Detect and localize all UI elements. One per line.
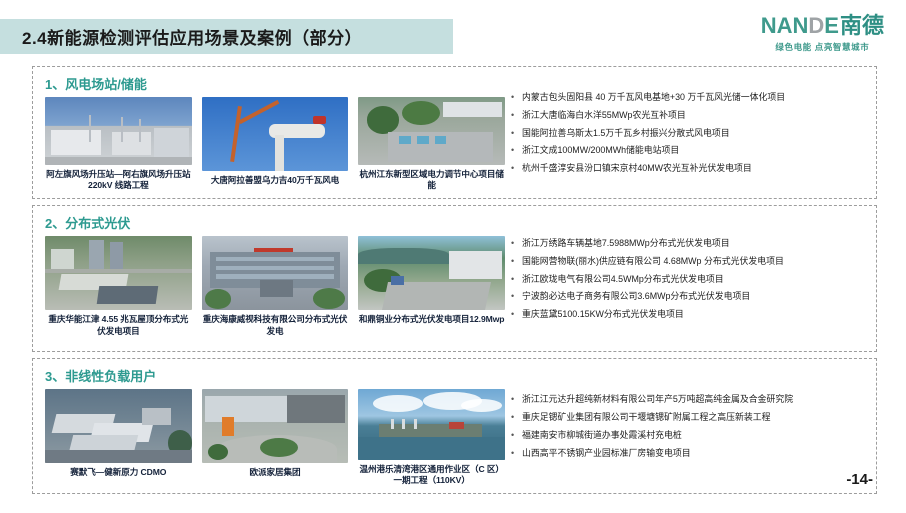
slide-title-band: 2.4新能源检测评估应用场景及案例（部分）: [0, 19, 453, 54]
bullet-dot: •: [511, 145, 522, 156]
thumb-caption: 温州港乐清湾港区通用作业区（C 区）一期工程（110KV）: [358, 464, 505, 487]
bullet-dot: •: [511, 128, 522, 139]
thumb-caption: 欧派家居集团: [202, 467, 349, 479]
section-1-heading: 1、风电场站/储能: [45, 74, 505, 93]
bullet-item: •浙江万绣路车辆基地7.5988MWp分布式光伏发电项目: [511, 238, 863, 249]
bullet-item: •内蒙古包头固阳县 40 万千瓦风电基地+30 万千瓦风光储一体化项目: [511, 92, 863, 103]
logo-wordmark: NANDE南德: [761, 14, 884, 37]
bullet-text: 重庆蓝黛5100.15KW分布式光伏发电项目: [522, 309, 684, 320]
thumb-card[interactable]: 温州港乐清湾港区通用作业区（C 区）一期工程（110KV）: [358, 389, 505, 487]
bullet-dot: •: [511, 110, 522, 121]
thumb-card[interactable]: 重庆华能江津 4.55 兆瓦屋顶分布式光伏发电项目: [45, 236, 192, 345]
section-1-left: 1、风电场站/储能 阿左旗风场升压站—阿右旗风场升压站 220kV 线路: [45, 74, 505, 192]
section-2-left: 2、分布式光伏 重庆华能江津 4.55 兆瓦屋顶分布式光伏发电项目: [45, 213, 505, 345]
bullet-text: 重庆足锶矿业集团有限公司干堰塘锶矿附属工程之高压新装工程: [522, 412, 771, 423]
section-wind-storage: 1、风电场站/储能 阿左旗风场升压站—阿右旗风场升压站 220kV 线路: [32, 66, 877, 199]
logo-tagline: 绿色电能 点亮智慧城市: [761, 41, 884, 53]
bullet-dot: •: [511, 291, 522, 302]
bullet-text: 山西高平不锈钢产业园标准厂房输变电项目: [522, 448, 691, 459]
bullet-dot: •: [511, 309, 522, 320]
thumb-caption: 杭州江东新型区域电力调节中心项目储能: [358, 169, 505, 192]
bullet-item: •山西高平不锈钢产业园标准厂房输变电项目: [511, 448, 863, 459]
wind-turbine-photo: [202, 97, 349, 171]
office-building-photo: [202, 236, 349, 310]
section-2-thumbs: 重庆华能江津 4.55 兆瓦屋顶分布式光伏发电项目: [45, 236, 505, 345]
thumb-card[interactable]: 阿左旗风场升压站—阿右旗风场升压站 220kV 线路工程: [45, 97, 192, 192]
thumb-caption: 阿左旗风场升压站—阿右旗风场升压站 220kV 线路工程: [45, 169, 192, 192]
thumb-caption: 赛默飞—健新原力 CDMO: [45, 467, 192, 479]
thumb-card[interactable]: 和鼎铜业分布式光伏发电项目12.9Mwp: [358, 236, 505, 345]
section-2-heading: 2、分布式光伏: [45, 213, 505, 232]
logo-latin-head: NAN: [761, 13, 809, 38]
page-number: -14-: [846, 471, 873, 488]
thumb-caption: 重庆华能江津 4.55 兆瓦屋顶分布式光伏发电项目: [45, 314, 192, 337]
bullet-dot: •: [511, 412, 522, 423]
bullet-item: •重庆足锶矿业集团有限公司干堰塘锶矿附属工程之高压新装工程: [511, 412, 863, 423]
section-1-bullets: •内蒙古包头固阳县 40 万千瓦风电基地+30 万千瓦风光储一体化项目 •浙江大…: [505, 74, 867, 192]
sections-container: 1、风电场站/储能 阿左旗风场升压站—阿右旗风场升压站 220kV 线路: [32, 66, 877, 494]
thumb-card[interactable]: 重庆海康威视科技有限公司分布式光伏发电: [202, 236, 349, 345]
bullet-item: •福建南安市柳城街道办事处霞溪村充电桩: [511, 430, 863, 441]
page-title: 2.4新能源检测评估应用场景及案例（部分）: [0, 24, 362, 49]
bullet-text: 福建南安市柳城街道办事处霞溪村充电桩: [522, 430, 682, 441]
bullet-item: •浙江大唐临海白水洋55MWp农光互补项目: [511, 110, 863, 121]
section-distributed-pv: 2、分布式光伏 重庆华能江津 4.55 兆瓦屋顶分布式光伏发电项目: [32, 205, 877, 352]
section-3-bullets: •浙江江元达升超纯新材料有限公司年产5万吨超高纯金属及合金研究院 •重庆足锶矿业…: [505, 366, 867, 487]
bullet-text: 宁波韵必达电子商务有限公司3.6MWp分布式光伏发电项目: [522, 291, 750, 302]
section-2-bullets: •浙江万绣路车辆基地7.5988MWp分布式光伏发电项目 •国能网营物联(丽水)…: [505, 213, 867, 345]
thumb-card[interactable]: 赛默飞—健新原力 CDMO: [45, 389, 192, 487]
section-3-heading: 3、非线性负载用户: [45, 366, 505, 385]
bullet-dot: •: [511, 274, 522, 285]
section-3-left: 3、非线性负载用户 赛默飞—健新原力 CDMO: [45, 366, 505, 487]
thumb-card[interactable]: 大唐阿拉善盟乌力吉40万千瓦风电: [202, 97, 349, 192]
thumb-caption: 重庆海康威视科技有限公司分布式光伏发电: [202, 314, 349, 337]
bullet-item: •浙江欧珑电气有限公司4.5WMp分布式光伏发电项目: [511, 274, 863, 285]
bullet-item: •浙江文成100MW/200MWh储能电站项目: [511, 145, 863, 156]
section-nonlinear-load: 3、非线性负载用户 赛默飞—健新原力 CDMO: [32, 358, 877, 494]
bullet-text: 国能阿拉善乌斯太1.5万千瓦乡村振兴分散式风电项目: [522, 128, 730, 139]
bullet-item: •杭州千盛淳安县汾口镇宋京村40MW农光互补光伏发电项目: [511, 163, 863, 174]
bullet-dot: •: [511, 238, 522, 249]
bullet-dot: •: [511, 394, 522, 405]
furniture-factory-photo: [202, 389, 349, 463]
bullet-text: 浙江江元达升超纯新材料有限公司年产5万吨超高纯金属及合金研究院: [522, 394, 793, 405]
bullet-text: 浙江大唐临海白水洋55MWp农光互补项目: [522, 110, 686, 121]
brand-logo: NANDE南德 绿色电能 点亮智慧城市: [761, 14, 884, 53]
bullet-item: •浙江江元达升超纯新材料有限公司年产5万吨超高纯金属及合金研究院: [511, 394, 863, 405]
thumb-caption: 大唐阿拉善盟乌力吉40万千瓦风电: [202, 175, 349, 187]
bullet-item: •国能网营物联(丽水)供应链有限公司 4.68MWp 分布式光伏发电项目: [511, 256, 863, 267]
bullet-dot: •: [511, 256, 522, 267]
bullet-text: 内蒙古包头固阳县 40 万千瓦风电基地+30 万千瓦风光储一体化项目: [522, 92, 785, 103]
logo-d-mark: D: [808, 13, 824, 38]
bullet-dot: •: [511, 163, 522, 174]
pharma-campus-photo: [45, 389, 192, 463]
bullet-dot: •: [511, 430, 522, 441]
bullet-text: 浙江万绣路车辆基地7.5988MWp分布式光伏发电项目: [522, 238, 730, 249]
logo-latin-tail: E: [824, 13, 839, 38]
substation-photo: [45, 97, 192, 165]
bullet-text: 国能网营物联(丽水)供应链有限公司 4.68MWp 分布式光伏发电项目: [522, 256, 784, 267]
factory-mountain-photo: [358, 236, 505, 310]
bullet-dot: •: [511, 448, 522, 459]
bullet-item: •宁波韵必达电子商务有限公司3.6MWp分布式光伏发电项目: [511, 291, 863, 302]
bullet-item: •国能阿拉善乌斯太1.5万千瓦乡村振兴分散式风电项目: [511, 128, 863, 139]
port-terminal-photo: [358, 389, 505, 460]
bullet-item: •重庆蓝黛5100.15KW分布式光伏发电项目: [511, 309, 863, 320]
bullet-text: 浙江文成100MW/200MWh储能电站项目: [522, 145, 679, 156]
bullet-text: 杭州千盛淳安县汾口镇宋京村40MW农光互补光伏发电项目: [522, 163, 752, 174]
bullet-text: 浙江欧珑电气有限公司4.5WMp分布式光伏发电项目: [522, 274, 724, 285]
thumb-card[interactable]: 欧派家居集团: [202, 389, 349, 487]
logo-chinese: 南德: [840, 13, 884, 38]
thumb-card[interactable]: 杭州江东新型区域电力调节中心项目储能: [358, 97, 505, 192]
bullet-dot: •: [511, 92, 522, 103]
section-3-thumbs: 赛默飞—健新原力 CDMO 欧派家居集团: [45, 389, 505, 487]
energy-storage-aerial-photo: [358, 97, 505, 165]
slide-root: 2.4新能源检测评估应用场景及案例（部分） NANDE南德 绿色电能 点亮智慧城…: [0, 0, 906, 513]
thumb-caption: 和鼎铜业分布式光伏发电项目12.9Mwp: [358, 314, 505, 326]
section-1-thumbs: 阿左旗风场升压站—阿右旗风场升压站 220kV 线路工程 大唐阿拉善盟乌力吉40…: [45, 97, 505, 192]
industrial-park-aerial-photo: [45, 236, 192, 310]
